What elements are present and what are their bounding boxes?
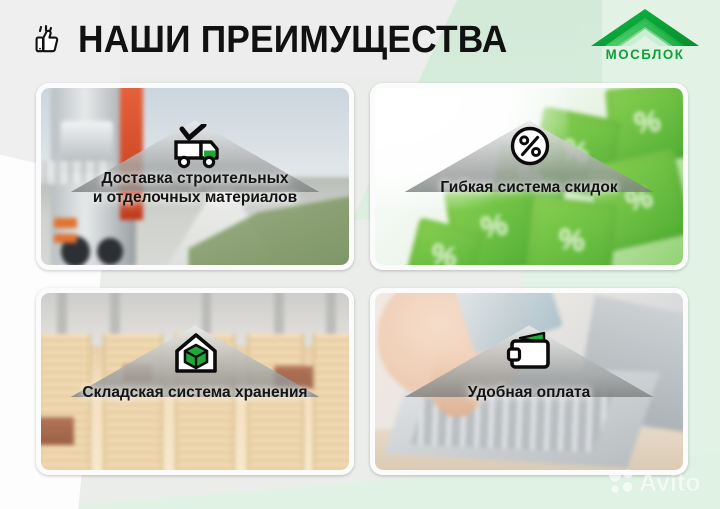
card-caption-delivery: Доставка строительных и отделочных матер… (36, 169, 354, 207)
banner-header: НАШИ ПРЕИМУЩЕСТВА МОСБЛОК (0, 0, 720, 76)
card-caption-discounts: Гибкая система скидок (370, 178, 688, 197)
green-chevron-mark (589, 8, 701, 48)
advantages-grid: Доставка строительных и отделочных матер… (36, 83, 688, 475)
thumbs-up-icon (30, 23, 64, 57)
card-caption-storage: Складская система хранения (36, 383, 354, 402)
caption-line-2: и отделочных материалов (93, 189, 297, 206)
card-caption-payment: Удобная оплата (370, 383, 688, 402)
card-overlay-discounts: Гибкая система скидок (370, 83, 688, 270)
logo-text: МОСБЛОК (589, 46, 701, 62)
advantage-card-payment[interactable]: Удобная оплата (370, 288, 688, 475)
caption-line-1: Доставка строительных (101, 170, 288, 187)
delivery-truck-check-icon (168, 124, 222, 172)
brand-logo: МОСБЛОК (586, 8, 704, 70)
promo-banner: НАШИ ПРЕИМУЩЕСТВА МОСБЛОК (0, 0, 720, 509)
page-title: НАШИ ПРЕИМУЩЕСТВА (78, 20, 507, 60)
card-overlay-delivery: Доставка строительных и отделочных матер… (36, 83, 354, 270)
card-overlay-payment: Удобная оплата (370, 288, 688, 475)
percent-circle-icon (502, 124, 556, 172)
advantage-card-delivery[interactable]: Доставка строительных и отделочных матер… (36, 83, 354, 270)
warehouse-box-icon (168, 329, 222, 377)
advantage-card-storage[interactable]: Складская система хранения (36, 288, 354, 475)
advantage-card-discounts[interactable]: % % % % % % % (370, 83, 688, 270)
wallet-icon (502, 329, 556, 377)
card-overlay-storage: Складская система хранения (36, 288, 354, 475)
